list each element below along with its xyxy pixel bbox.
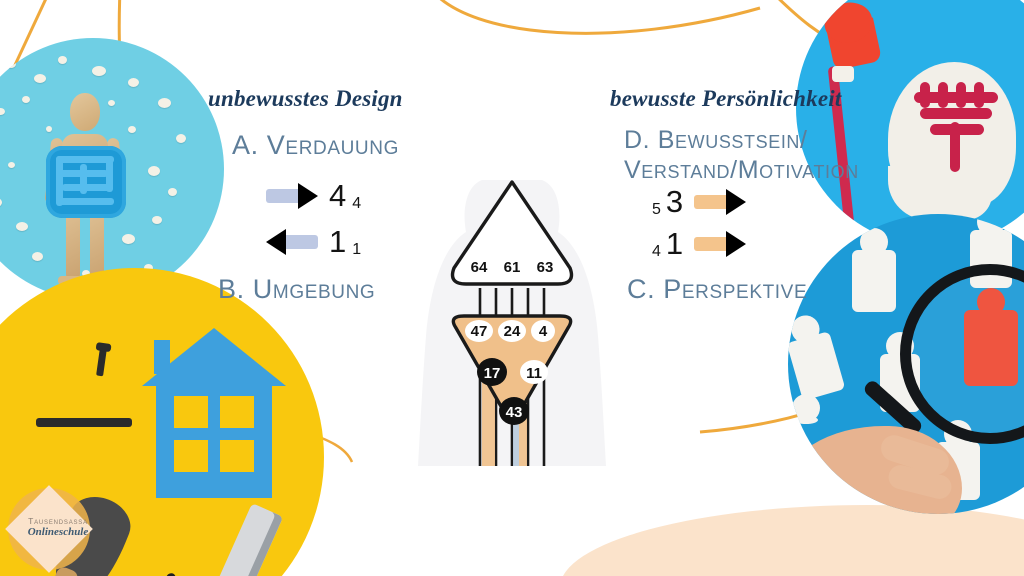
label-d-bewusstsein: D. Bewusstsein/ Verstand/Motivation	[624, 125, 899, 185]
arrow-row-left-2: 1 1	[266, 226, 361, 257]
arrow-right-1-subscript: 5	[652, 202, 661, 218]
arrow-left-2-subscript: 1	[352, 242, 361, 258]
figure-white	[852, 250, 896, 312]
gate-24: 24	[504, 323, 521, 340]
mannequin-head	[70, 93, 100, 131]
arrow-row-right-2: 4 1	[652, 228, 746, 259]
arrow-right-icon	[694, 231, 746, 257]
gate-61: 61	[504, 259, 521, 276]
gate-47: 47	[471, 323, 488, 340]
arrow-left-1-number: 4	[329, 180, 346, 211]
house-body	[156, 378, 272, 498]
clay-heart-icon	[826, 17, 882, 70]
plug-connector	[832, 66, 854, 82]
peach-blob-bottom-right	[560, 505, 1024, 576]
mind-photo	[796, 0, 1024, 246]
arrow-right-icon	[266, 183, 318, 209]
gate-11: 11	[526, 365, 542, 382]
bodygraph-diagram: 64 61 63 47 24 4 17 11	[404, 176, 620, 466]
arrow-right-2-number: 1	[666, 228, 683, 259]
arrow-row-left-1: 4 4	[266, 180, 361, 211]
arrow-right-icon	[694, 189, 746, 215]
logo-line-2: Onlineschule	[16, 526, 100, 538]
figure-white	[794, 416, 818, 424]
clay-intestine-icon	[46, 146, 126, 218]
arrow-left-2-number: 1	[329, 226, 346, 257]
arrow-left-icon	[266, 229, 318, 255]
arrow-left-1-subscript: 4	[352, 196, 361, 212]
screw-icon	[96, 348, 107, 377]
label-a-verdauung: A. Verdauung	[232, 130, 399, 161]
gate-63: 63	[537, 259, 554, 276]
gate-4: 4	[539, 323, 548, 340]
arrow-right-1-number: 3	[666, 186, 683, 217]
gate-43: 43	[506, 404, 523, 421]
logo-line-1: Tausendsassa	[16, 516, 100, 526]
gate-64: 64	[471, 259, 488, 276]
arrow-row-right-1: 5 3	[652, 186, 746, 217]
brand-logo[interactable]: Tausendsassa Onlineschule	[8, 488, 100, 570]
title-conscious-personality: bewusste Persönlichkeit	[610, 86, 841, 112]
digestion-photo	[0, 38, 224, 300]
arrow-right-2-subscript: 4	[652, 244, 661, 260]
gate-17: 17	[484, 365, 501, 382]
blade-icon	[215, 503, 283, 576]
figure-white	[788, 331, 845, 401]
perspective-photo	[788, 214, 1024, 514]
title-unconscious-design: unbewusstes Design	[208, 86, 403, 112]
slide-canvas: unbewusstes Design bewusste Persönlichke…	[0, 0, 1024, 576]
label-c-perspektive: C. Perspektive	[627, 274, 807, 305]
head-neck	[888, 166, 992, 220]
magnifier-lens	[900, 264, 1024, 444]
metal-bar-icon	[36, 418, 132, 427]
label-b-umgebung: B. Umgebung	[218, 274, 375, 305]
clay-brain-icon	[914, 82, 1000, 144]
